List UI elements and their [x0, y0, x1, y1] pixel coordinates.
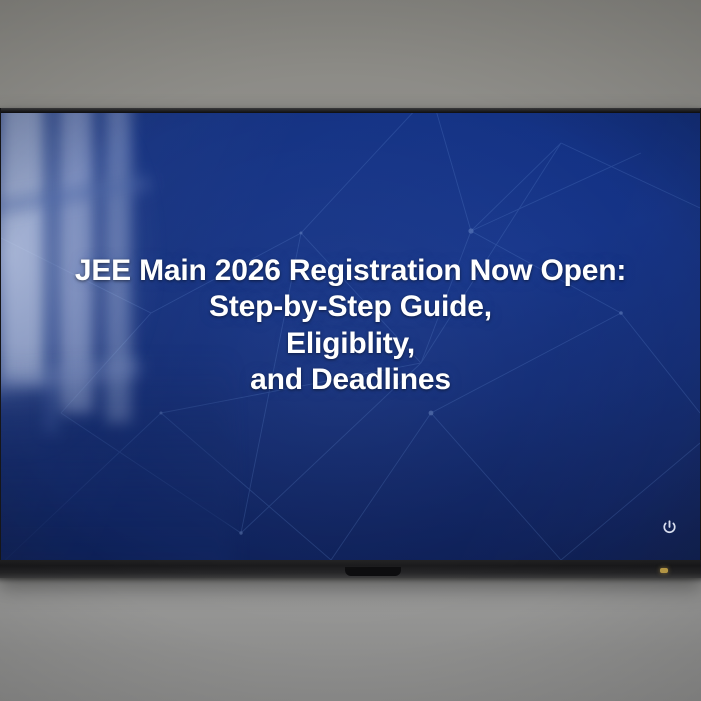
screenshot-root: JEE Main 2026 Registration Now Open: Ste…	[0, 0, 701, 701]
wall-upper-shading	[0, 0, 701, 118]
slide-title-block: JEE Main 2026 Registration Now Open: Ste…	[1, 253, 700, 398]
title-line-2: Step-by-Step Guide,	[1, 289, 700, 325]
tv-screen[interactable]: JEE Main 2026 Registration Now Open: Ste…	[1, 113, 700, 560]
title-line-3: Eligiblity,	[1, 326, 700, 362]
tv-bezel-bottom	[0, 560, 701, 578]
title-line-1: JEE Main 2026 Registration Now Open:	[1, 253, 700, 289]
title-line-4: and Deadlines	[1, 362, 700, 398]
status-led	[660, 568, 668, 573]
power-icon[interactable]	[661, 519, 678, 536]
wall-lower-shading	[0, 575, 701, 701]
tv-bezel-top	[0, 108, 701, 113]
television: JEE Main 2026 Registration Now Open: Ste…	[0, 108, 701, 578]
ir-sensor-bump	[345, 567, 401, 576]
